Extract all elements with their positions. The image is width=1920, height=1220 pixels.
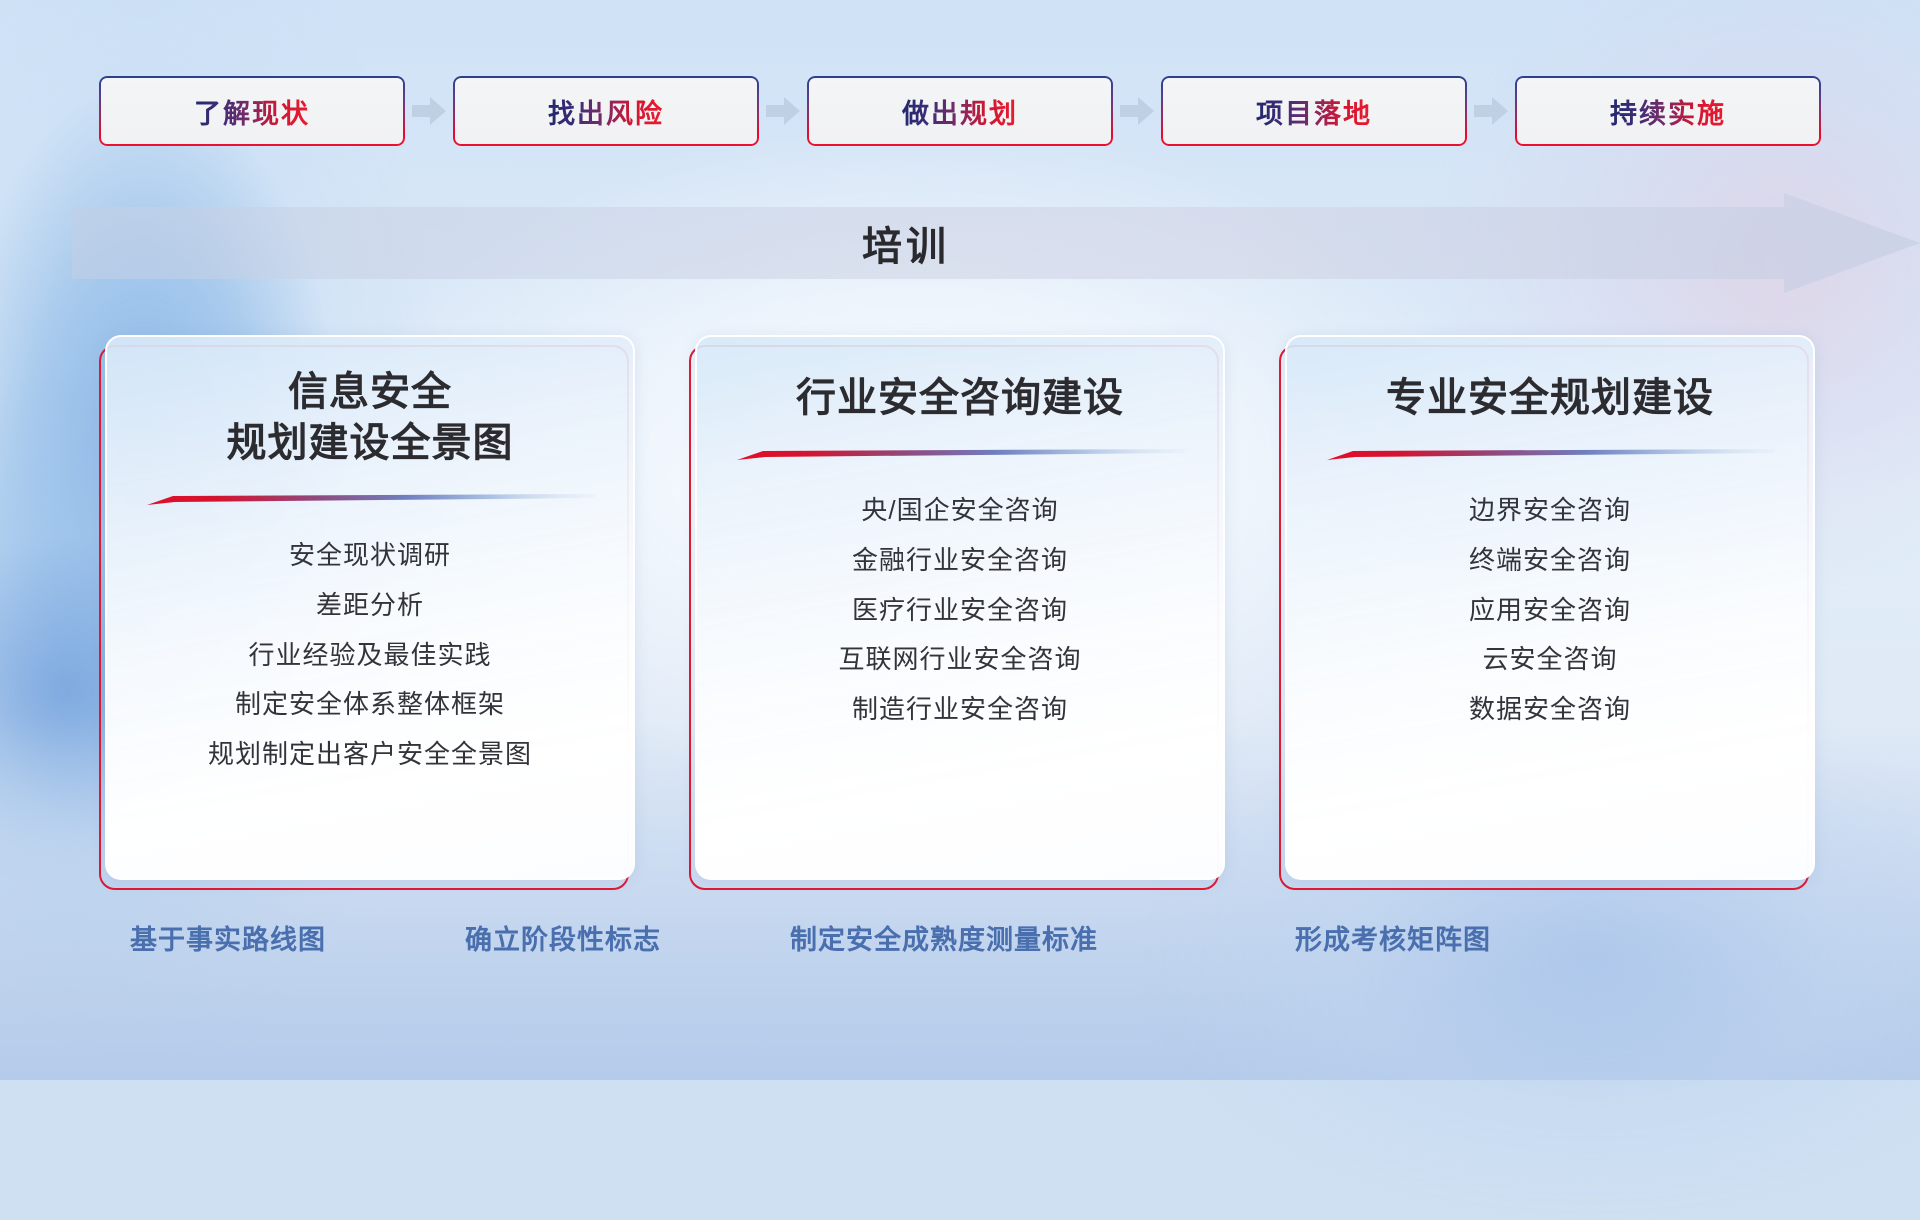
list-item: 规划制定出客户安全全景图	[208, 736, 532, 774]
step-label-1: 了解现状	[194, 92, 310, 131]
list-item: 互联网行业安全咨询	[838, 641, 1081, 679]
list-item: 行业经验及最佳实践	[248, 637, 491, 675]
card-1-title-line-1: 信息安全	[227, 367, 514, 418]
card-2-list: 央/国企安全咨询 金融行业安全咨询 医疗行业安全咨询 互联网行业安全咨询 制造行…	[838, 492, 1081, 728]
step-arrow-icon-1	[405, 74, 453, 148]
card-1: 信息安全 规划建设全景图	[105, 335, 635, 880]
card-2-title-line-1: 行业安全咨询建设	[796, 373, 1124, 424]
card-3-title-line-1: 专业安全规划建设	[1386, 373, 1714, 424]
step-arrow-icon-3	[1113, 74, 1161, 148]
step-label-3: 做出规划	[902, 92, 1018, 131]
list-item: 应用安全咨询	[1469, 592, 1631, 630]
step-box-4[interactable]: 项目落地	[1161, 76, 1467, 146]
card-1-divider	[145, 493, 595, 507]
bottom-label-row: 基于事实路线图 确立阶段性标志 制定安全成熟度测量标准 形成考核矩阵图	[0, 910, 1920, 970]
card-1-title-line-2: 规划建设全景图	[227, 418, 514, 469]
list-item: 安全现状调研	[289, 537, 451, 575]
list-item: 金融行业安全咨询	[852, 542, 1068, 580]
step-box-1[interactable]: 了解现状	[99, 76, 405, 146]
bottom-label-1: 基于事实路线图	[130, 910, 326, 970]
card-3-list: 边界安全咨询 终端安全咨询 应用安全咨询 云安全咨询 数据安全咨询	[1469, 492, 1631, 728]
step-arrow-icon-2	[759, 74, 807, 148]
training-banner: 培训	[72, 193, 1920, 293]
step-box-5[interactable]: 持续实施	[1515, 76, 1821, 146]
gradient-divider-icon	[1325, 448, 1775, 462]
card-2-title: 行业安全咨询建设	[796, 373, 1124, 424]
card-2: 行业安全咨询建设	[695, 335, 1225, 880]
list-item: 央/国企安全咨询	[861, 492, 1058, 530]
bottom-label-4: 形成考核矩阵图	[1295, 910, 1491, 970]
list-item: 边界安全咨询	[1469, 492, 1631, 530]
training-banner-label: 培训	[72, 193, 1920, 293]
card-row: 信息安全 规划建设全景图	[0, 335, 1920, 880]
card-1-list: 安全现状调研 差距分析 行业经验及最佳实践 制定安全体系整体框架 规划制定出客户…	[208, 537, 532, 773]
card-2-divider	[735, 448, 1185, 462]
list-item: 数据安全咨询	[1469, 691, 1631, 729]
list-item: 制定安全体系整体框架	[235, 686, 505, 724]
list-item: 差距分析	[316, 587, 424, 625]
list-item: 医疗行业安全咨询	[852, 592, 1068, 630]
process-step-row: 了解现状 找出风险 做出规划 项目落地 持续实施	[0, 74, 1920, 148]
card-3-divider	[1325, 448, 1775, 462]
list-item: 终端安全咨询	[1469, 542, 1631, 580]
step-arrow-icon-4	[1467, 74, 1515, 148]
card-3-title: 专业安全规划建设	[1386, 373, 1714, 424]
gradient-divider-icon	[735, 448, 1185, 462]
list-item: 云安全咨询	[1482, 641, 1617, 679]
gradient-divider-icon	[145, 493, 595, 507]
list-item: 制造行业安全咨询	[852, 691, 1068, 729]
step-label-2: 找出风险	[548, 92, 664, 131]
card-1-title: 信息安全 规划建设全景图	[227, 367, 514, 469]
step-box-3[interactable]: 做出规划	[807, 76, 1113, 146]
card-3: 专业安全规划建设	[1285, 335, 1815, 880]
step-box-2[interactable]: 找出风险	[453, 76, 759, 146]
card-2-panel[interactable]: 行业安全咨询建设	[695, 335, 1225, 880]
step-label-5: 持续实施	[1610, 92, 1726, 131]
step-label-4: 项目落地	[1256, 92, 1372, 131]
bottom-label-3: 制定安全成熟度测量标准	[790, 910, 1098, 970]
card-1-panel[interactable]: 信息安全 规划建设全景图	[105, 335, 635, 880]
card-3-panel[interactable]: 专业安全规划建设	[1285, 335, 1815, 880]
bottom-label-2: 确立阶段性标志	[465, 910, 661, 970]
